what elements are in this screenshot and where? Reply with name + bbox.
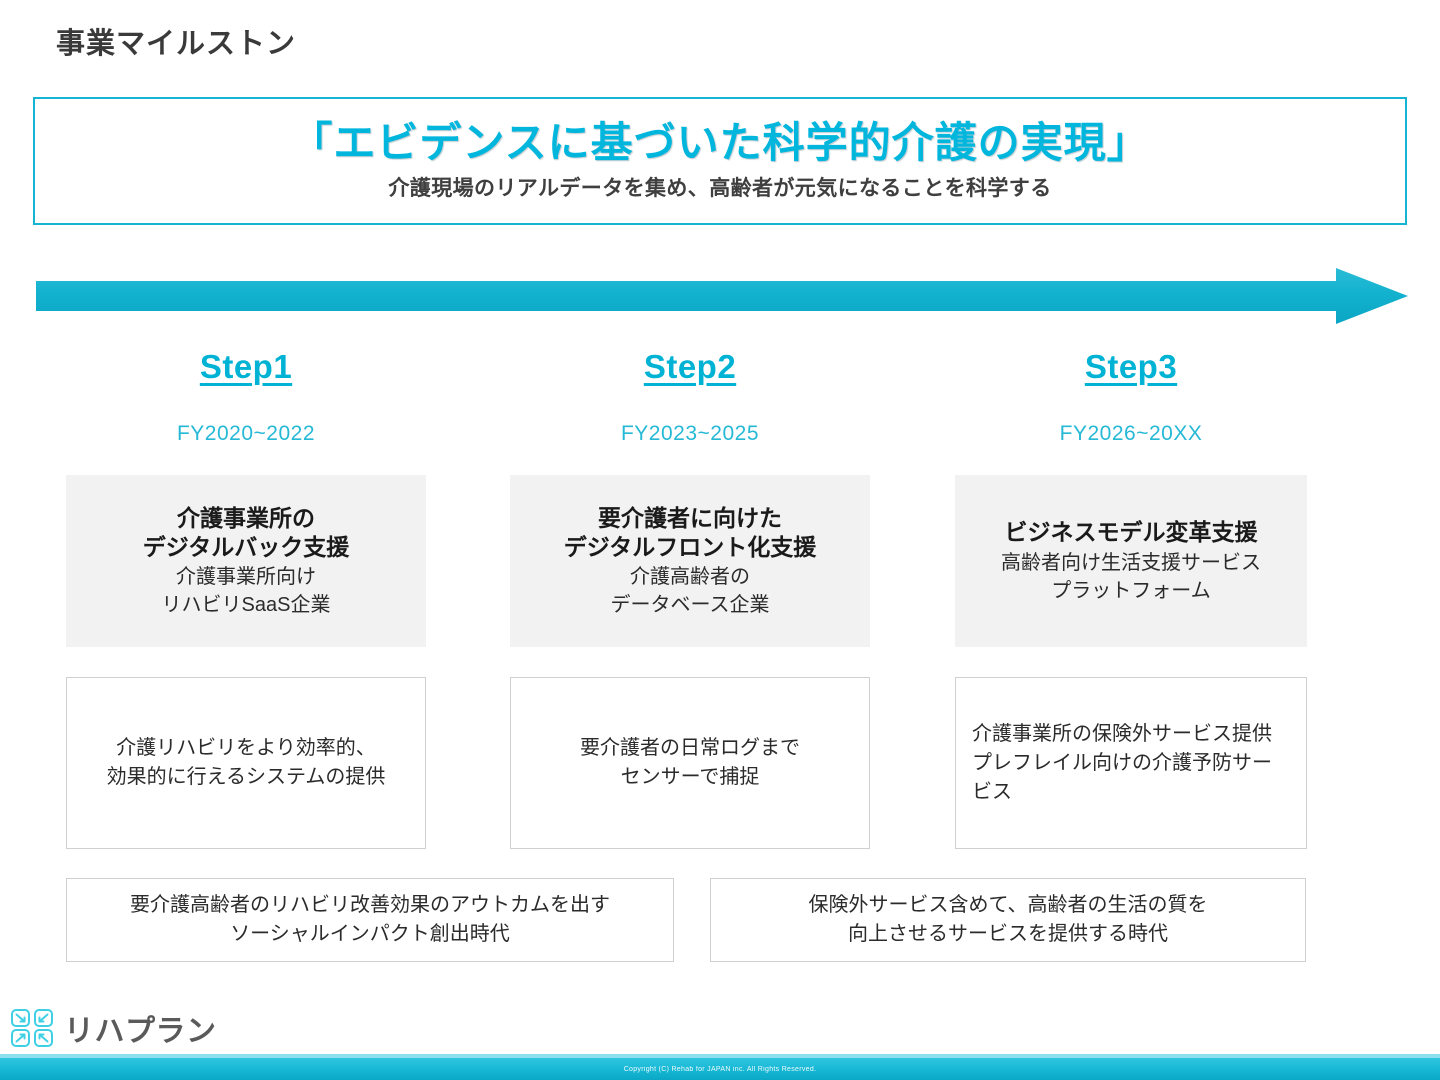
step-label-1: Step1 <box>66 348 426 386</box>
summary-title-line1-3: ビジネスモデル変革支援 <box>1005 518 1258 547</box>
detail-line1-3: 介護事業所の保険外サービス提供 <box>972 720 1290 749</box>
vision-subtitle: 介護現場のリアルデータを集め、高齢者が元気になることを科学する <box>388 172 1051 202</box>
step-years-2: FY2023~2025 <box>510 422 870 446</box>
step-summary-card-2: 要介護者に向けた デジタルフロント化支援 介護高齢者の データベース企業 <box>510 475 870 647</box>
summary-title-line1-2: 要介護者に向けた <box>598 504 782 533</box>
summary-desc-line2-3: プラットフォーム <box>1051 578 1210 604</box>
step-column-1: Step1 FY2020~2022 介護事業所の デジタルバック支援 介護事業所… <box>66 348 426 849</box>
step-detail-card-2: 要介護者の日常ログまで センサーで捕捉 <box>510 677 870 849</box>
era-box-2: 保険外サービス含めて、高齢者の生活の質を 向上させるサービスを提供する時代 <box>710 878 1306 962</box>
detail-line1-1: 介護リハビリをより効率的、 <box>107 734 386 763</box>
step-detail-card-3: 介護事業所の保険外サービス提供 プレフレイル向けの介護予防サービス <box>955 677 1307 849</box>
summary-title-line2-2: デジタルフロント化支援 <box>564 533 817 562</box>
step-label-3: Step3 <box>955 348 1307 386</box>
step-label-2: Step2 <box>510 348 870 386</box>
step-summary-card-1: 介護事業所の デジタルバック支援 介護事業所向け リハビリSaaS企業 <box>66 475 426 647</box>
detail-line2-2: センサーで捕捉 <box>580 763 800 792</box>
era-box-1: 要介護高齢者のリハビリ改善効果のアウトカムを出す ソーシャルインパクト創出時代 <box>66 878 674 962</box>
vision-headline: 「エビデンスに基づいた科学的介護の実現」 <box>290 120 1149 166</box>
detail-line1-2: 要介護者の日常ログまで <box>580 734 800 763</box>
summary-desc-line1-3: 高齢者向け生活支援サービス <box>1001 550 1261 576</box>
era-2-line2: 向上させるサービスを提供する時代 <box>809 920 1208 949</box>
summary-desc-line1-1: 介護事業所向け <box>176 564 316 590</box>
rehaplan-logo-icon <box>10 1008 54 1048</box>
rightward-timeline-arrow <box>36 268 1408 324</box>
vision-statement-box: 「エビデンスに基づいた科学的介護の実現」 介護現場のリアルデータを集め、高齢者が… <box>33 97 1407 225</box>
step-detail-card-1: 介護リハビリをより効率的、 効果的に行えるシステムの提供 <box>66 677 426 849</box>
detail-line2-1: 効果的に行えるシステムの提供 <box>107 763 386 792</box>
step-years-3: FY2026~20XX <box>955 422 1307 446</box>
brand-logo: リハプラン <box>10 1006 217 1050</box>
summary-desc-line2-1: リハビリSaaS企業 <box>162 592 331 618</box>
step-column-2: Step2 FY2023~2025 要介護者に向けた デジタルフロント化支援 介… <box>510 348 870 849</box>
copyright-bar: Copyright (C) Rehab for JAPAN inc. All R… <box>0 1058 1440 1080</box>
brand-name: リハプラン <box>64 1006 217 1050</box>
era-1-line2: ソーシャルインパクト創出時代 <box>130 920 610 949</box>
step-summary-card-3: ビジネスモデル変革支援 高齢者向け生活支援サービス プラットフォーム <box>955 475 1307 647</box>
era-1-line1: 要介護高齢者のリハビリ改善効果のアウトカムを出す <box>130 891 610 920</box>
summary-desc-line2-2: データベース企業 <box>611 592 770 618</box>
summary-title-line2-1: デジタルバック支援 <box>143 533 350 562</box>
detail-line2-3: プレフレイル向けの介護予防サービス <box>972 749 1290 807</box>
summary-desc-line1-2: 介護高齢者の <box>630 564 750 590</box>
summary-title-line1-1: 介護事業所の <box>177 504 315 533</box>
step-years-1: FY2020~2022 <box>66 422 426 446</box>
era-2-line1: 保険外サービス含めて、高齢者の生活の質を <box>809 891 1208 920</box>
copyright-text: Copyright (C) Rehab for JAPAN inc. All R… <box>624 1066 817 1073</box>
step-column-3: Step3 FY2026~20XX ビジネスモデル変革支援 高齢者向け生活支援サ… <box>955 348 1307 849</box>
page-title: 事業マイルストン <box>56 20 296 62</box>
